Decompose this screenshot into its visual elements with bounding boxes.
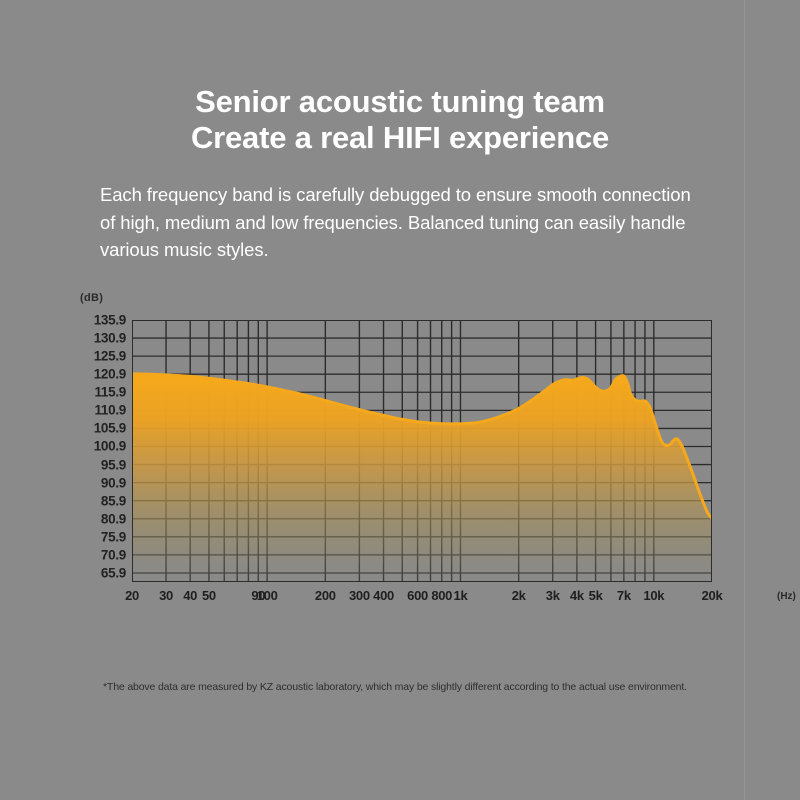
y-axis-tick: 100.9 bbox=[94, 439, 126, 454]
y-axis-tick: 85.9 bbox=[101, 493, 126, 508]
y-axis-tick: 110.9 bbox=[94, 403, 126, 418]
y-axis-tick: 65.9 bbox=[101, 565, 126, 580]
chart-svg bbox=[132, 320, 712, 582]
y-axis-tick: 135.9 bbox=[94, 313, 126, 328]
x-axis-tick: 2k bbox=[512, 588, 526, 603]
y-axis-tick: 125.9 bbox=[94, 349, 126, 364]
y-axis-tick: 75.9 bbox=[101, 529, 126, 544]
x-axis-tick: 10k bbox=[643, 588, 664, 603]
chart-plot-area bbox=[132, 320, 712, 582]
x-axis-tick: 200 bbox=[315, 588, 336, 603]
disclaimer-footnote: *The above data are measured by KZ acous… bbox=[103, 681, 723, 693]
x-axis-tick: 3k bbox=[546, 588, 560, 603]
response-area-fill bbox=[132, 374, 712, 582]
y-axis-tick: 90.9 bbox=[101, 475, 126, 490]
y-axis-tick: 80.9 bbox=[101, 511, 126, 526]
x-axis-tick: 4k bbox=[570, 588, 584, 603]
x-axis-tick: 20 bbox=[125, 588, 139, 603]
x-axis-tick-labels: (Hz) 20304050901002003004006008001k2k3k4… bbox=[132, 588, 712, 610]
x-axis-tick: 40 bbox=[183, 588, 197, 603]
x-axis-tick: 50 bbox=[202, 588, 216, 603]
x-axis-tick: 100 bbox=[257, 588, 278, 603]
x-axis-tick: 5k bbox=[589, 588, 603, 603]
x-axis-tick: 7k bbox=[617, 588, 631, 603]
y-axis-tick: 95.9 bbox=[101, 457, 126, 472]
headline-line-2: Create a real HIFI experience bbox=[0, 120, 800, 156]
x-axis-tick: 800 bbox=[431, 588, 452, 603]
y-axis-tick: 130.9 bbox=[94, 331, 126, 346]
x-axis-unit-label: (Hz) bbox=[777, 591, 796, 602]
y-axis-tick-labels: 135.9130.9125.9120.9115.9110.9105.9100.9… bbox=[60, 320, 126, 582]
x-axis-tick: 300 bbox=[349, 588, 370, 603]
x-axis-tick: 1k bbox=[454, 588, 468, 603]
x-axis-tick: 30 bbox=[159, 588, 173, 603]
y-axis-tick: 120.9 bbox=[94, 367, 126, 382]
y-axis-tick: 105.9 bbox=[94, 421, 126, 436]
description-paragraph: Each frequency band is carefully debugge… bbox=[100, 181, 710, 264]
headline-line-1: Senior acoustic tuning team bbox=[195, 84, 605, 119]
x-axis-tick: 400 bbox=[373, 588, 394, 603]
x-axis-tick: 600 bbox=[407, 588, 428, 603]
x-axis-tick: 20k bbox=[702, 588, 723, 603]
page-title: Senior acoustic tuning team Create a rea… bbox=[0, 84, 800, 156]
y-axis-unit-label: (dB) bbox=[80, 292, 103, 304]
y-axis-tick: 115.9 bbox=[94, 385, 126, 400]
frequency-response-chart: (dB) 135.9130.9125.9120.9115.9110.9105.9… bbox=[60, 292, 760, 637]
y-axis-tick: 70.9 bbox=[101, 547, 126, 562]
product-infographic-page: Senior acoustic tuning team Create a rea… bbox=[0, 0, 800, 800]
